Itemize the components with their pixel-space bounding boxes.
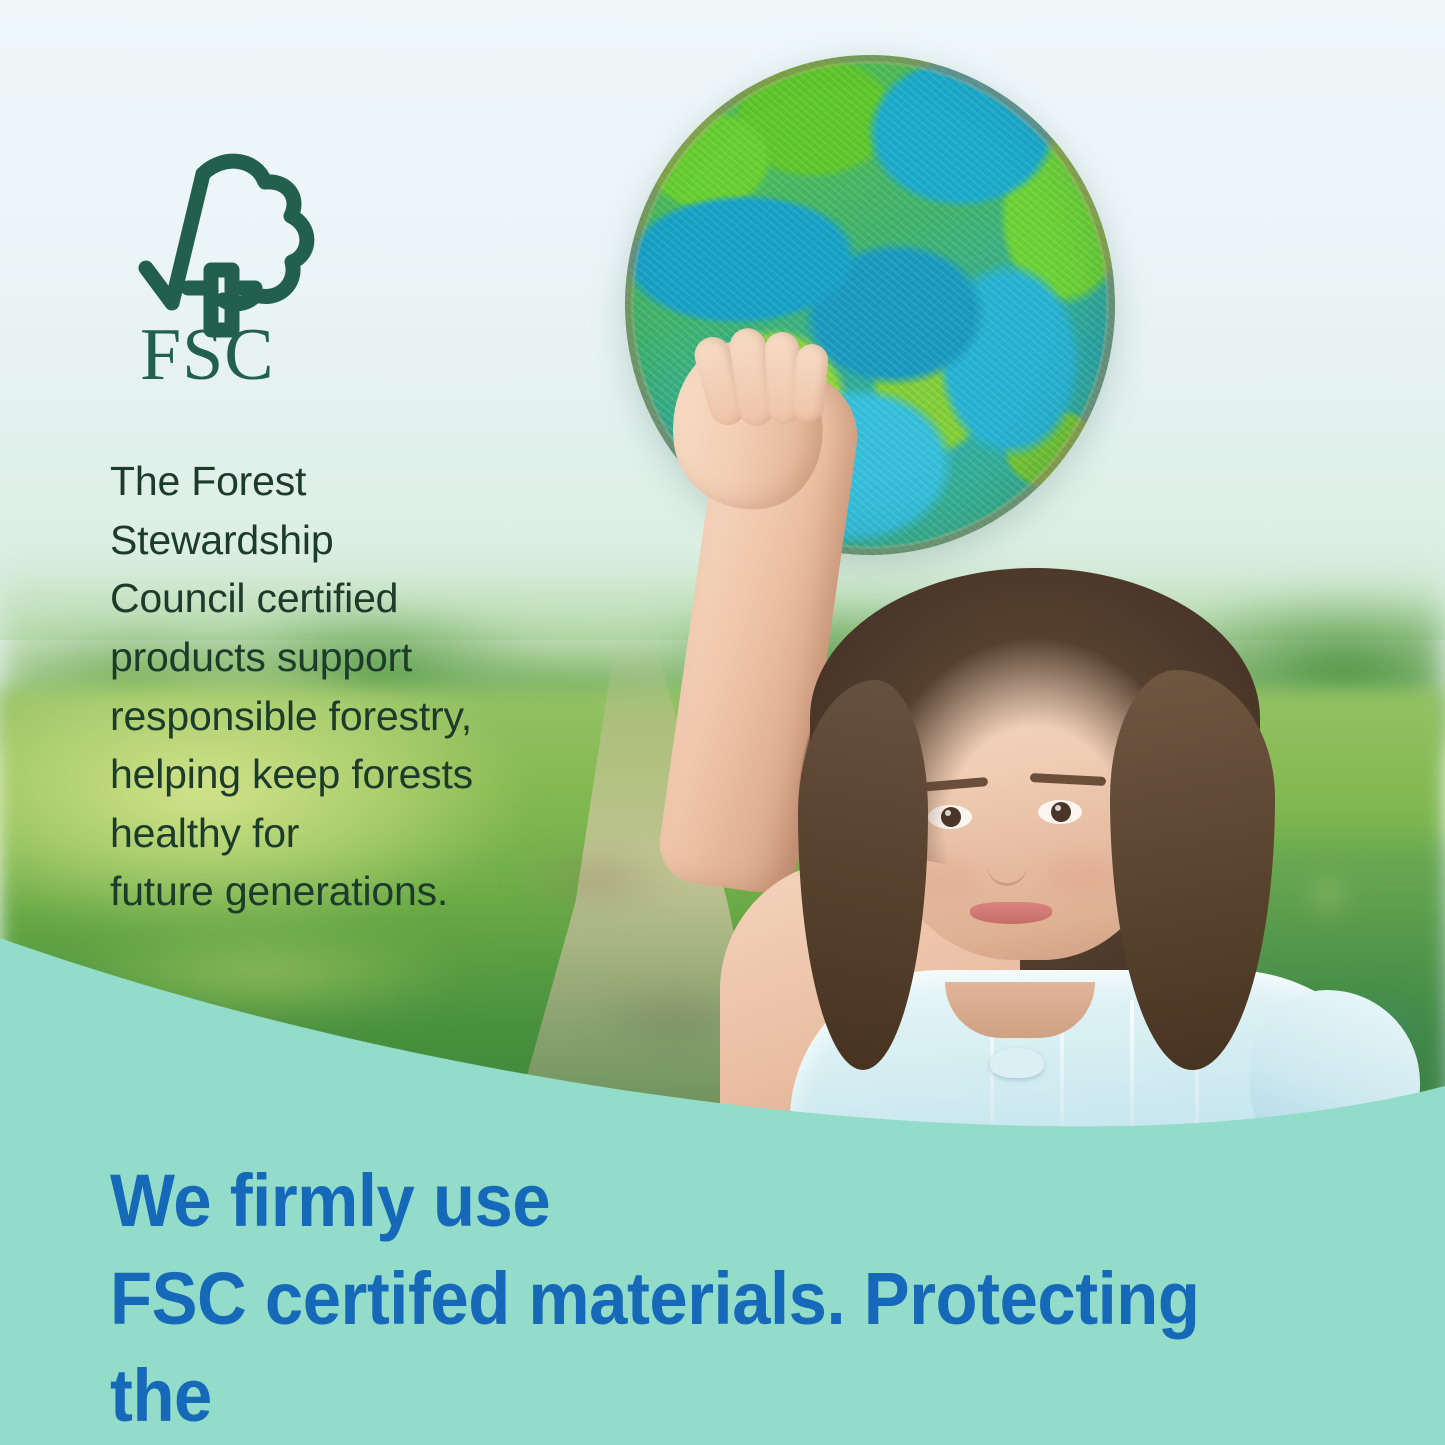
mission-headline: We firmly use FSC certifed materials. Pr… xyxy=(110,1152,1273,1445)
fsc-wordmark: FSC xyxy=(140,318,275,392)
girl-figure xyxy=(690,40,1445,1180)
dress-bow xyxy=(990,1048,1044,1078)
mouth xyxy=(970,902,1052,924)
poster-canvas: FSC The Forest Stewardship Council certi… xyxy=(0,0,1445,1445)
dress-sleeve xyxy=(1250,990,1420,1160)
fsc-description-text: The Forest Stewardship Council certified… xyxy=(110,452,630,921)
